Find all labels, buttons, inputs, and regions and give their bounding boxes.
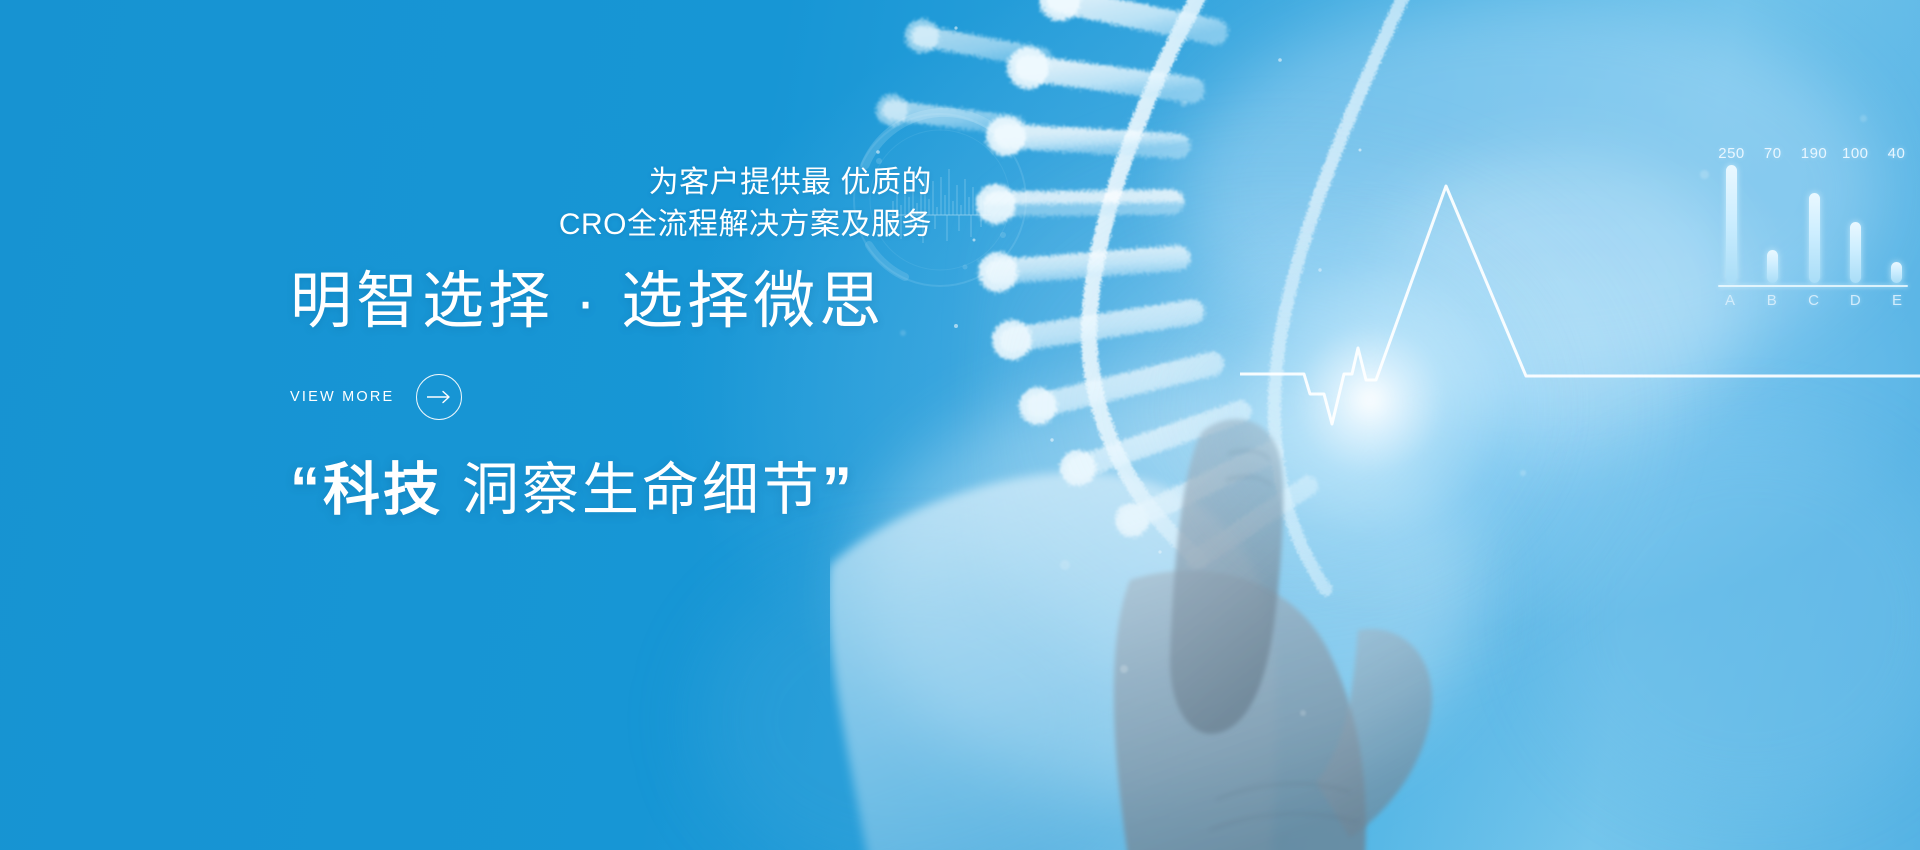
bar-label-e: E xyxy=(1891,292,1904,309)
hero-banner: 250 70 190 100 40 xyxy=(0,0,1920,850)
view-more-label: VIEW MORE xyxy=(290,389,394,405)
bar-label-a: A xyxy=(1724,292,1737,309)
bar-c xyxy=(1809,193,1820,283)
bar-column-c: 190 xyxy=(1809,165,1820,283)
bokeh-dot xyxy=(1300,710,1306,716)
banner-headline: 明智选择 · 选择微思 xyxy=(290,264,1050,340)
bar-value-e: 40 xyxy=(1888,145,1906,162)
bar-e xyxy=(1891,262,1902,283)
bokeh-dot xyxy=(1860,115,1867,122)
bar-a xyxy=(1726,165,1737,283)
banner-quote: “科技 洞察生命细节” xyxy=(290,450,1070,529)
bar-chart-category-labels: A B C D E xyxy=(1718,287,1908,309)
bokeh-dot xyxy=(1180,100,1187,107)
bar-d xyxy=(1850,222,1861,283)
bar-column-e: 40 xyxy=(1891,165,1902,283)
bar-chart-overlay: 250 70 190 100 40 xyxy=(1718,155,1908,330)
bokeh-dot xyxy=(1120,665,1128,673)
bar-column-b: 70 xyxy=(1767,165,1778,283)
subtitle-line-1: 为客户提供最 优质的 xyxy=(290,162,932,204)
bar-value-c: 190 xyxy=(1801,145,1828,162)
hero-content: 为客户提供最 优质的 CRO全流程解决方案及服务 明智选择 · 选择微思 VIE… xyxy=(290,0,1010,850)
bar-column-d: 100 xyxy=(1850,165,1861,283)
view-more-button[interactable]: VIEW MORE xyxy=(290,374,460,420)
bar-value-b: 70 xyxy=(1764,145,1782,162)
bar-column-a: 250 xyxy=(1726,165,1737,283)
bokeh-dot xyxy=(1700,170,1709,179)
subtitle-line-2: CRO全流程解决方案及服务 xyxy=(290,204,932,246)
bar-label-c: C xyxy=(1808,292,1821,309)
quote-light-text: 洞察生命细节 xyxy=(443,458,822,522)
bar-value-d: 100 xyxy=(1842,145,1869,162)
bar-value-a: 250 xyxy=(1718,145,1745,162)
bokeh-dot xyxy=(1060,560,1070,570)
bar-chart-plot: 250 70 190 100 40 xyxy=(1718,155,1908,283)
bar-chart-bars: 250 70 190 100 40 xyxy=(1726,165,1902,283)
banner-subtitle: 为客户提供最 优质的 CRO全流程解决方案及服务 xyxy=(290,162,1010,246)
arrow-right-icon[interactable] xyxy=(416,374,462,420)
quote-open-mark: “ xyxy=(290,455,323,522)
quote-close-mark: ” xyxy=(822,455,855,522)
bokeh-dot xyxy=(1520,470,1526,476)
bar-b xyxy=(1767,250,1778,283)
quote-strong-text: 科技 xyxy=(323,458,443,522)
bar-label-b: B xyxy=(1766,292,1779,309)
bar-label-d: D xyxy=(1849,292,1862,309)
